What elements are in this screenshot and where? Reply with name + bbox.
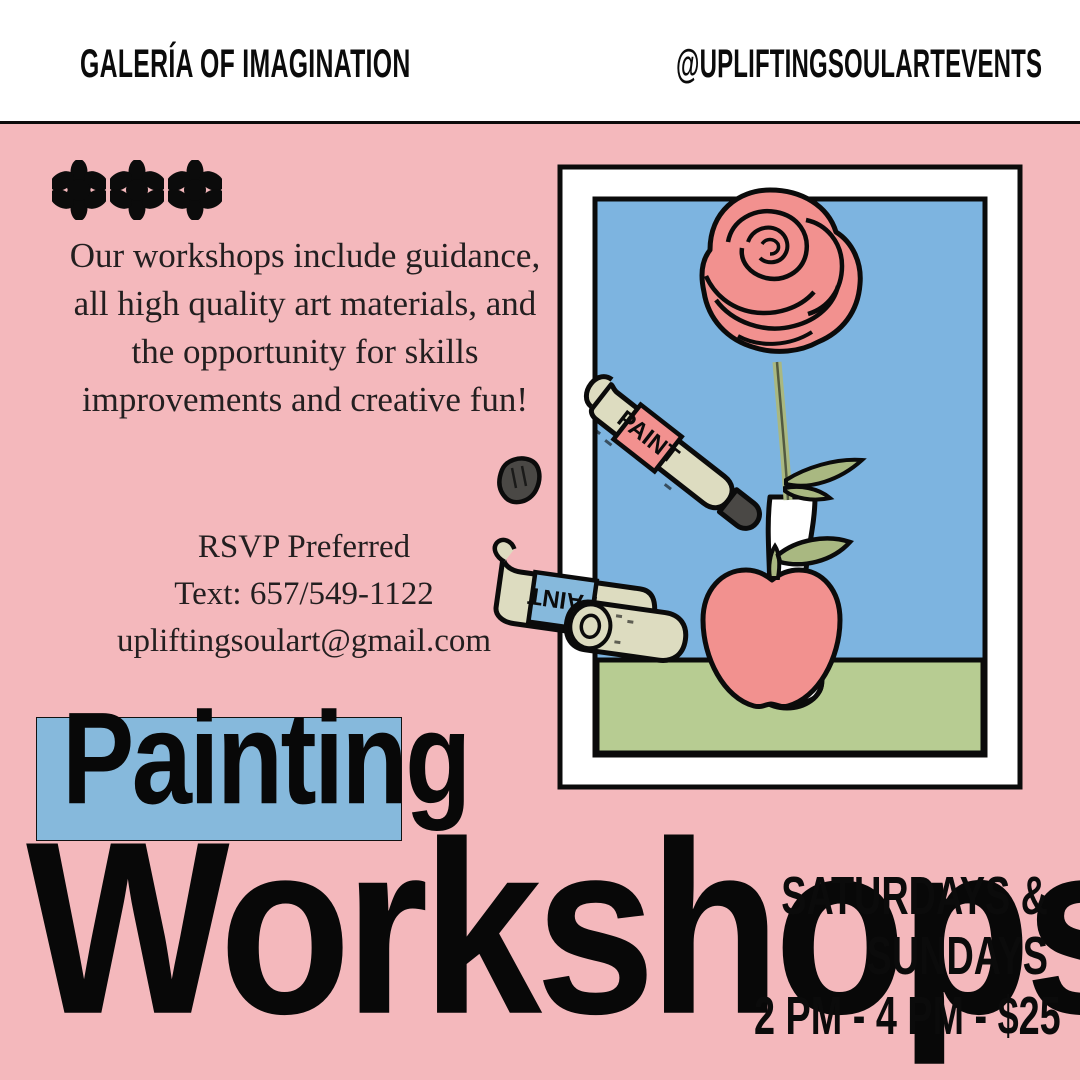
poster-canvas: GALERÍA OF IMAGINATION @UPLIFTINGSOULART…	[0, 0, 1080, 1080]
schedule-block: SATURDAYS & SUNDAYS 2 PM - 4 PM - $25	[628, 866, 1048, 1046]
header-bar: GALERÍA OF IMAGINATION @UPLIFTINGSOULART…	[0, 0, 1080, 124]
schedule-days-line2: SUNDAYS	[754, 926, 1048, 986]
schedule-time-price: 2 PM - 4 PM - $25	[754, 986, 1048, 1046]
schedule-days-line1: SATURDAYS &	[754, 866, 1048, 926]
asterisk-decor-group	[52, 160, 232, 224]
brand-name: GALERÍA OF IMAGINATION	[80, 44, 411, 84]
flower-asterisk-icon	[168, 160, 222, 220]
social-handle[interactable]: @UPLIFTINGSOULARTEVENTS	[676, 44, 1042, 84]
flower-asterisk-icon	[52, 160, 106, 220]
flower-asterisk-icon	[110, 160, 164, 220]
still-life-illustration: PAINT PAINT	[470, 150, 1050, 830]
paint-cap	[499, 458, 539, 502]
